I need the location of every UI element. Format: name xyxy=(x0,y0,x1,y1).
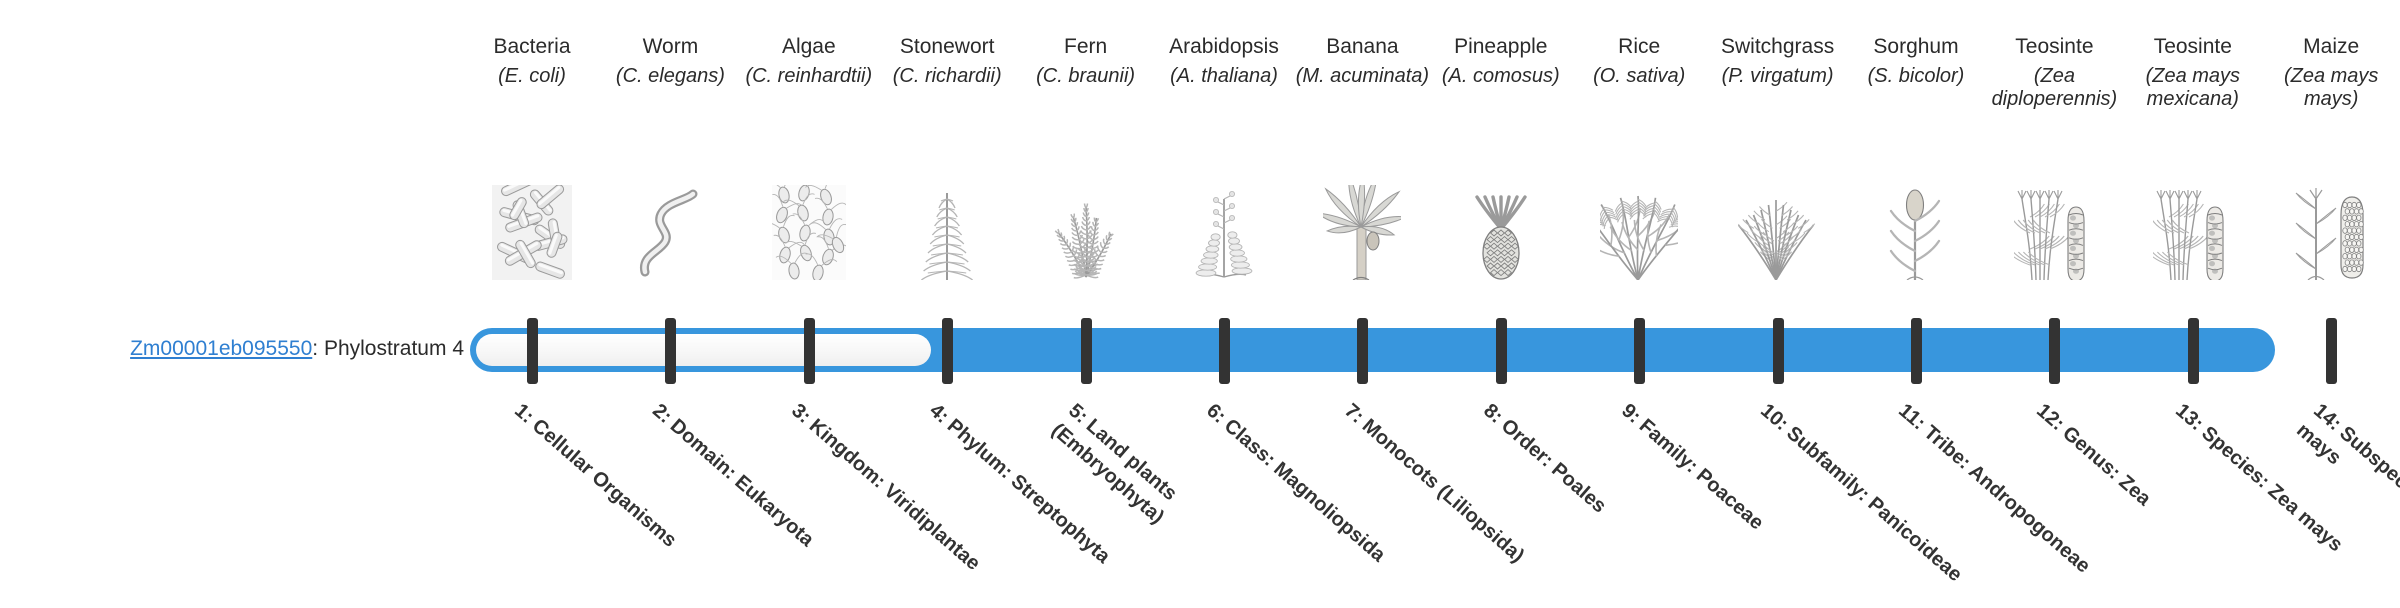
phylostratum-tick xyxy=(1081,318,1092,384)
species-scientific-name: (Zea mays mexicana) xyxy=(2124,65,2262,117)
species-scientific-name: (A. comosus) xyxy=(1432,65,1570,117)
species-common-name: Rice xyxy=(1570,34,1708,60)
species-common-name: Stonewort xyxy=(878,34,1016,60)
gene-label-separator: : xyxy=(312,337,324,360)
phylostratum-rank: Domain: Eukaryota xyxy=(666,415,818,551)
phylostratum-tick xyxy=(1496,318,1507,384)
species-column: Bacteria(E. coli) xyxy=(463,34,601,117)
species-common-name: Fern xyxy=(1017,34,1155,60)
phylostratum-tick xyxy=(665,318,676,384)
species-column: Worm(C. elegans) xyxy=(601,34,739,117)
phylostratum-tick xyxy=(1634,318,1645,384)
algae-icon xyxy=(740,170,878,280)
species-common-name: Pineapple xyxy=(1432,34,1570,60)
species-column: Teosinte(Zea diploperennis) xyxy=(1985,34,2123,117)
species-column: Arabidopsis(A. thaliana) xyxy=(1155,34,1293,117)
species-common-name: Sorghum xyxy=(1847,34,1985,60)
species-column: Maize(Zea mays mays) xyxy=(2262,34,2400,117)
phylostratum-rank: Order: Poales xyxy=(1497,415,1610,518)
maize-icon xyxy=(2262,170,2400,280)
species-column: Switchgrass(P. virgatum) xyxy=(1709,34,1847,117)
pineapple-icon xyxy=(1432,170,1570,280)
species-scientific-name: (S. bicolor) xyxy=(1847,65,1985,117)
species-common-name: Bacteria xyxy=(463,34,601,60)
species-column: Pineapple(A. comosus) xyxy=(1432,34,1570,117)
species-column: Banana(M. acuminata) xyxy=(1293,34,1431,117)
teosinte-icon xyxy=(1985,170,2123,280)
phylostratum-tick xyxy=(1219,318,1230,384)
phylostratum-rank: Genus: Zea xyxy=(2059,422,2156,510)
phylostratum-number: 13: xyxy=(2171,400,2207,436)
phylostratum-rank: Cellular Organisms xyxy=(528,415,681,552)
phylostratum-tick xyxy=(942,318,953,384)
phylostratum-rank: Family: Poaceae xyxy=(1635,415,1768,534)
teosinte-icon xyxy=(2124,170,2262,280)
species-scientific-name: (O. sativa) xyxy=(1570,65,1708,117)
species-column: Rice(O. sativa) xyxy=(1570,34,1708,117)
species-column: Teosinte(Zea mays mexicana) xyxy=(2124,34,2262,117)
species-common-name: Worm xyxy=(601,34,739,60)
phylostratum-tick xyxy=(2188,318,2199,384)
species-scientific-name: (M. acuminata) xyxy=(1293,65,1431,117)
banana-icon xyxy=(1293,170,1431,280)
phylostratum-number: 12: xyxy=(2033,400,2069,436)
gene-id-link[interactable]: Zm00001eb095550 xyxy=(130,337,312,360)
species-common-name: Arabidopsis xyxy=(1155,34,1293,60)
species-column: Algae(C. reinhardtii) xyxy=(740,34,878,117)
rice-icon xyxy=(1570,170,1708,280)
species-common-name: Teosinte xyxy=(2124,34,2262,60)
phylostratum-diagram: Zm00001eb095550: Phylostratum 4 Bacteria… xyxy=(0,0,2400,580)
phylostratum-tick xyxy=(1911,318,1922,384)
species-scientific-name: (C. braunii) xyxy=(1017,65,1155,117)
phylostratum-tick xyxy=(1357,318,1368,384)
phylostratum-tick xyxy=(2326,318,2337,384)
species-common-name: Banana xyxy=(1293,34,1431,60)
phylostratum-number: 10: xyxy=(1756,400,1792,436)
species-common-name: Algae xyxy=(740,34,878,60)
phylostratum-tick xyxy=(527,318,538,384)
phylostratum-progress-unfilled xyxy=(476,334,931,366)
sorghum-icon xyxy=(1847,170,1985,280)
species-scientific-name: (A. thaliana) xyxy=(1155,65,1293,117)
species-scientific-name: (C. reinhardtii) xyxy=(740,65,878,117)
phylostratum-tick xyxy=(804,318,815,384)
species-scientific-name: (Zea diploperennis) xyxy=(1985,65,2123,117)
species-column: Fern(C. braunii) xyxy=(1017,34,1155,117)
species-scientific-name: (E. coli) xyxy=(463,65,601,117)
worm-icon xyxy=(601,170,739,280)
gene-phylostratum-label: Zm00001eb095550: Phylostratum 4 xyxy=(24,336,464,362)
species-common-name: Teosinte xyxy=(1985,34,2123,60)
gene-phylostratum-value: Phylostratum 4 xyxy=(324,337,464,360)
switchgrass-icon xyxy=(1709,170,1847,280)
species-common-name: Maize xyxy=(2262,34,2400,60)
fern-icon xyxy=(1017,170,1155,280)
species-column: Stonewort(C. richardii) xyxy=(878,34,1016,117)
species-column: Sorghum(S. bicolor) xyxy=(1847,34,1985,117)
species-scientific-name: (C. richardii) xyxy=(878,65,1016,117)
species-scientific-name: (C. elegans) xyxy=(601,65,739,117)
species-scientific-name: (P. virgatum) xyxy=(1709,65,1847,117)
species-scientific-name: (Zea mays mays) xyxy=(2262,65,2400,117)
phylostratum-tick xyxy=(1773,318,1784,384)
phylostratum-progress-bar xyxy=(470,328,2275,372)
stonewort-icon xyxy=(878,170,1016,280)
bacteria-icon xyxy=(463,170,601,280)
phylostratum-number: 11: xyxy=(1894,400,1929,435)
species-common-name: Switchgrass xyxy=(1709,34,1847,60)
phylostratum-tick xyxy=(2049,318,2060,384)
arabidopsis-icon xyxy=(1155,170,1293,280)
